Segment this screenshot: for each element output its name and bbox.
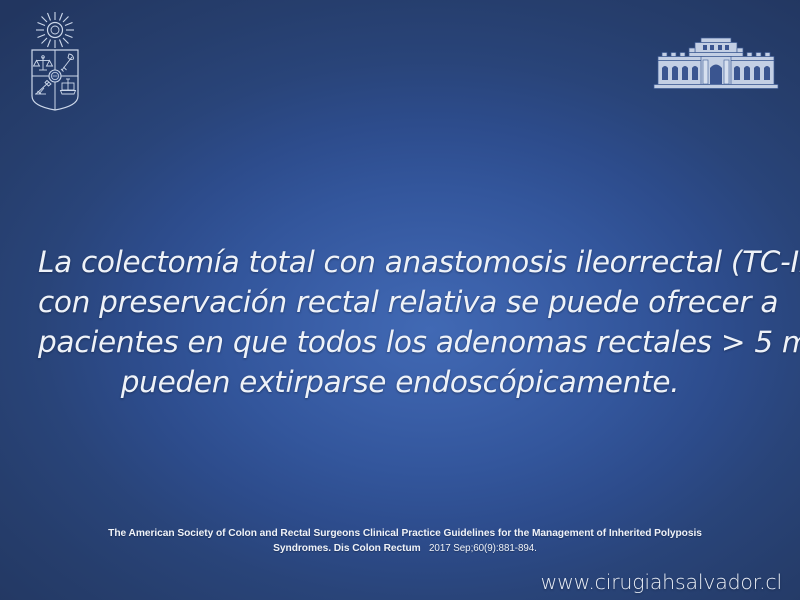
quote-line-3: pacientes en que todos los adenomas rect… [38, 322, 762, 362]
building-facade-icon [648, 36, 784, 92]
citation-reference-detail: 2017 Sep;60(9):881-894. [429, 543, 537, 554]
quote-line-1: La colectomía total con anastomosis ileo… [38, 242, 762, 282]
quote-line-2: con preservación rectal relativa se pued… [38, 282, 762, 322]
coat-of-arms-icon [22, 10, 88, 112]
website-url[interactable]: www.cirugiahsalvador.cl [541, 570, 783, 594]
presentation-slide: La colectomía total con anastomosis ileo… [0, 0, 800, 600]
quote-line-4: pueden extirparse endoscópicamente. [38, 362, 762, 402]
citation-block: The American Society of Colon and Rectal… [60, 527, 750, 556]
slide-main-quote: La colectomía total con anastomosis ileo… [38, 242, 762, 402]
citation-journal: Syndromes. Dis Colon Rectum [273, 543, 421, 554]
citation-line-1: The American Society of Colon and Rectal… [60, 527, 750, 542]
universidad-de-chile-logo [22, 10, 88, 112]
hospital-building-logo [648, 36, 784, 92]
citation-line-2: Syndromes. Dis Colon Rectum 2017 Sep;60(… [60, 542, 750, 557]
